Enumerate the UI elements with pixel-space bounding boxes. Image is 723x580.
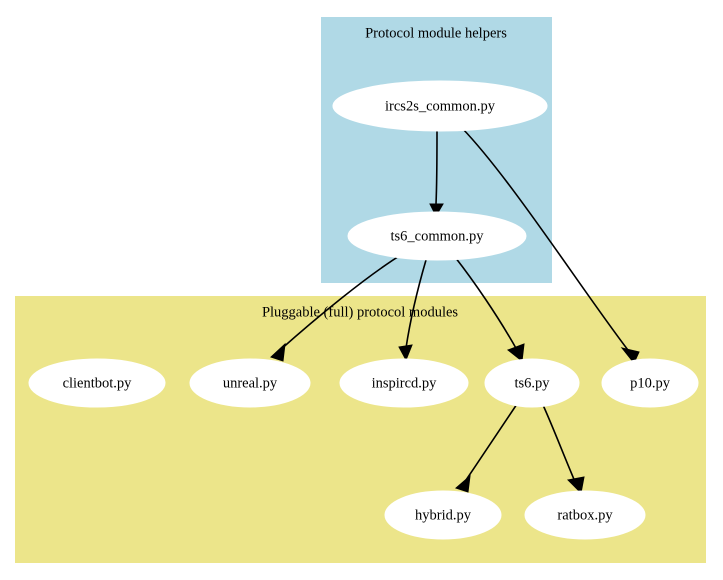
node-label: unreal.py <box>223 375 278 391</box>
node-p10[interactable]: p10.py <box>602 359 698 407</box>
node-label: ratbox.py <box>557 507 613 523</box>
node-label: hybrid.py <box>415 507 472 523</box>
node-label: inspircd.py <box>372 375 438 391</box>
cluster-pluggable-label: Pluggable (full) protocol modules <box>262 304 458 320</box>
node-label: ts6_common.py <box>390 228 484 244</box>
node-unreal[interactable]: unreal.py <box>190 359 310 407</box>
node-label: ircs2s_common.py <box>385 98 496 114</box>
node-label: p10.py <box>630 375 671 391</box>
node-ircs2s-common[interactable]: ircs2s_common.py <box>333 81 547 131</box>
node-label: clientbot.py <box>63 375 133 391</box>
node-hybrid[interactable]: hybrid.py <box>385 491 501 539</box>
node-inspircd[interactable]: inspircd.py <box>340 359 468 407</box>
node-clientbot[interactable]: clientbot.py <box>29 359 165 407</box>
node-ts6[interactable]: ts6.py <box>485 359 579 407</box>
node-ts6-common[interactable]: ts6_common.py <box>348 212 526 260</box>
node-ratbox[interactable]: ratbox.py <box>525 491 645 539</box>
graph-canvas: Protocol module helpers Pluggable (full)… <box>0 0 723 580</box>
cluster-helpers-label: Protocol module helpers <box>365 25 507 41</box>
graph-svg: Protocol module helpers Pluggable (full)… <box>0 0 723 580</box>
node-label: ts6.py <box>514 375 550 391</box>
